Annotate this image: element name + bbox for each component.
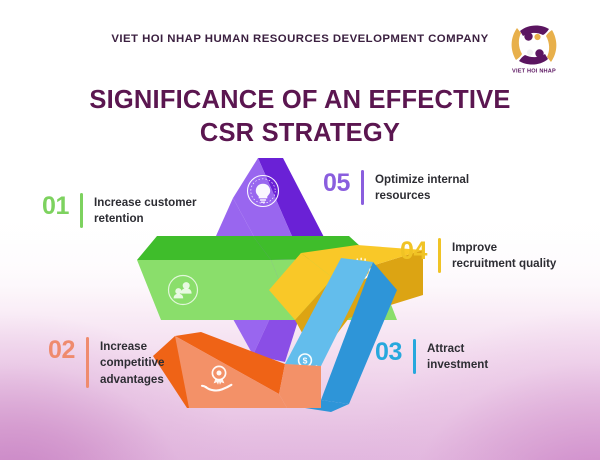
callout-03: 03 Attract investment: [375, 339, 488, 374]
callout-01-text: Increase customer retention: [94, 193, 196, 228]
callout-05-number: 05: [323, 170, 350, 196]
callout-02: 02 Increase competitive advantages: [48, 337, 164, 388]
infographic-poster: VIET HOI NHAP HUMAN RESOURCES DEVELOPMEN…: [0, 0, 600, 460]
callout-01-number: 01: [42, 193, 69, 219]
page-title-line-1: SIGNIFICANCE OF AN EFFECTIVE: [89, 86, 510, 114]
callout-05-text: Optimize internal resources: [375, 170, 469, 205]
callout-04-number: 04: [400, 238, 427, 264]
callout-02-number: 02: [48, 337, 75, 363]
callout-02-text: Increase competitive advantages: [100, 337, 164, 388]
viet-hoi-nhap-logo: VIET HOI NHAP: [503, 14, 565, 76]
callout-03-text: Attract investment: [427, 339, 488, 374]
callout-04: 04 Improve recruitment quality: [400, 238, 556, 273]
callout-03-divider: [413, 339, 416, 374]
callout-01: 01 Increase customer retention: [42, 193, 196, 228]
callout-05-divider: [361, 170, 364, 205]
page-title-line-2: CSR STRATEGY: [60, 117, 540, 150]
callout-04-divider: [438, 238, 441, 273]
callout-03-number: 03: [375, 339, 402, 365]
callout-04-text: Improve recruitment quality: [452, 238, 556, 273]
page-title: SIGNIFICANCE OF AN EFFECTIVE CSR STRATEG…: [60, 84, 540, 150]
callout-02-divider: [86, 337, 89, 388]
callout-05: 05 Optimize internal resources: [323, 170, 469, 205]
callout-01-divider: [80, 193, 83, 228]
band-orange: [153, 332, 321, 408]
svg-text:VIET HOI NHAP: VIET HOI NHAP: [512, 69, 556, 75]
